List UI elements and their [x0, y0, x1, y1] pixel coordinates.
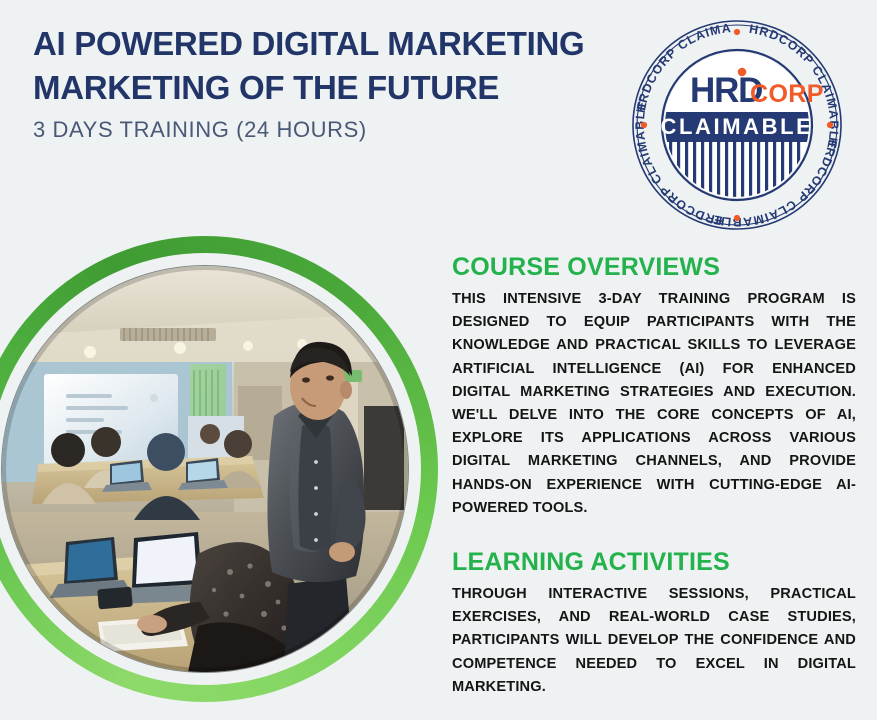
badge-separator-dot: [734, 29, 740, 35]
badge-logo-corp: CORP: [750, 80, 824, 108]
badge-band-text: CLAIMABLE: [661, 114, 814, 139]
badge-separator-dot: [734, 215, 740, 221]
training-photo-circle: [0, 236, 438, 702]
section-heading-learning-activities: LEARNING ACTIVITIES: [452, 547, 856, 577]
page-title-line-1: AI POWERED DIGITAL MARKETING: [33, 22, 633, 66]
badge-separator-dot: [641, 122, 647, 128]
hrdcorp-badge-icon: HRDCORP CLAIMABLE HRDCORP CLAIMABLE HRDC…: [617, 16, 857, 234]
header-block: AI POWERED DIGITAL MARKETING MARKETING O…: [33, 22, 633, 144]
page-subtitle: 3 DAYS TRAINING (24 HOURS): [33, 116, 633, 144]
badge-logo-dot: [738, 68, 747, 77]
hrdcorp-claimable-badge: HRDCORP CLAIMABLE HRDCORP CLAIMABLE HRDC…: [617, 16, 857, 234]
section-body-course-overviews: THIS INTENSIVE 3-DAY TRAINING PROGRAM IS…: [452, 288, 856, 520]
section-heading-course-overviews: COURSE OVERVIEWS: [452, 252, 856, 282]
content-column: COURSE OVERVIEWS THIS INTENSIVE 3-DAY TR…: [452, 252, 856, 699]
section-divider-gap: [452, 520, 856, 547]
section-body-learning-activities: THROUGH INTERACTIVE SESSIONS, PRACTICAL …: [452, 583, 856, 699]
page-title-line-2: MARKETING OF THE FUTURE: [33, 66, 633, 110]
classroom-photo: [2, 266, 408, 672]
badge-separator-dot: [827, 122, 833, 128]
poster-canvas: AI POWERED DIGITAL MARKETING MARKETING O…: [0, 0, 877, 720]
photo-frame: [2, 266, 408, 672]
